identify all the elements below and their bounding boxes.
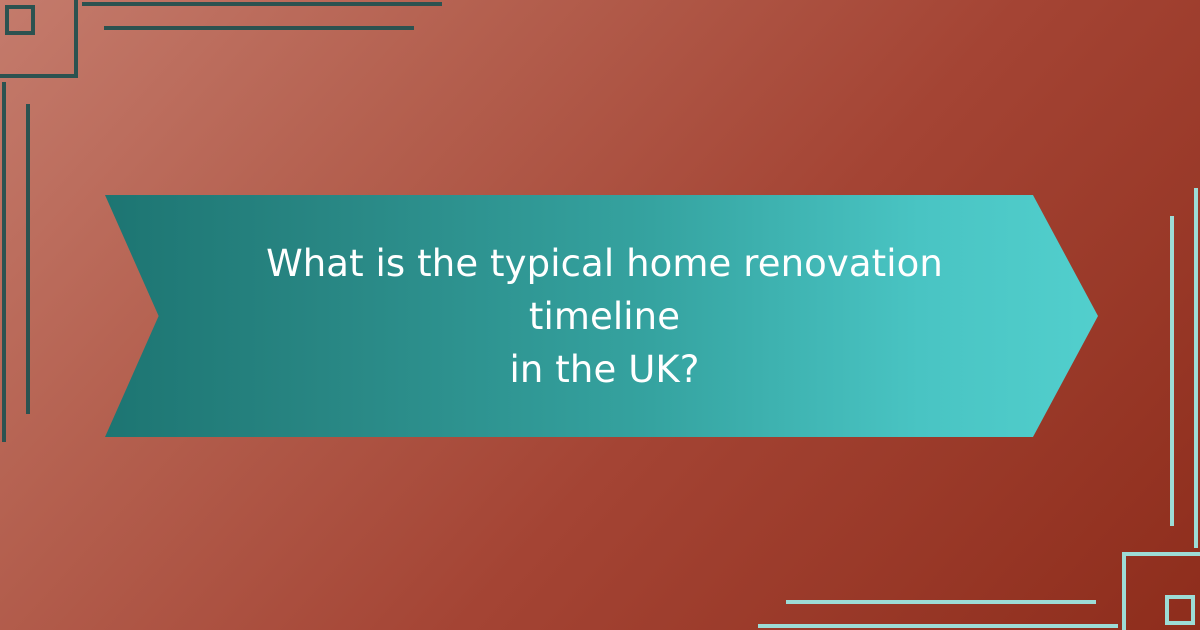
corner-line-horizontal-outer: [82, 2, 442, 6]
corner-line-vertical-inner: [1170, 216, 1174, 526]
corner-line-horizontal-inner: [104, 26, 414, 30]
corner-bracket-icon: [0, 0, 78, 78]
corner-line-vertical-outer: [1194, 188, 1198, 548]
corner-line-vertical-outer: [2, 82, 6, 442]
corner-line-vertical-inner: [26, 104, 30, 414]
corner-ornament-bottom-right: [1000, 430, 1200, 630]
question-card: What is the typical home renovation time…: [0, 0, 1200, 630]
question-banner: What is the typical home renovation time…: [105, 195, 1098, 437]
question-text: What is the typical home renovation time…: [205, 237, 1005, 396]
corner-bracket-icon: [1122, 552, 1200, 630]
corner-ornament-top-left: [0, 0, 200, 200]
corner-line-horizontal-inner: [786, 600, 1096, 604]
corner-line-horizontal-outer: [758, 624, 1118, 628]
